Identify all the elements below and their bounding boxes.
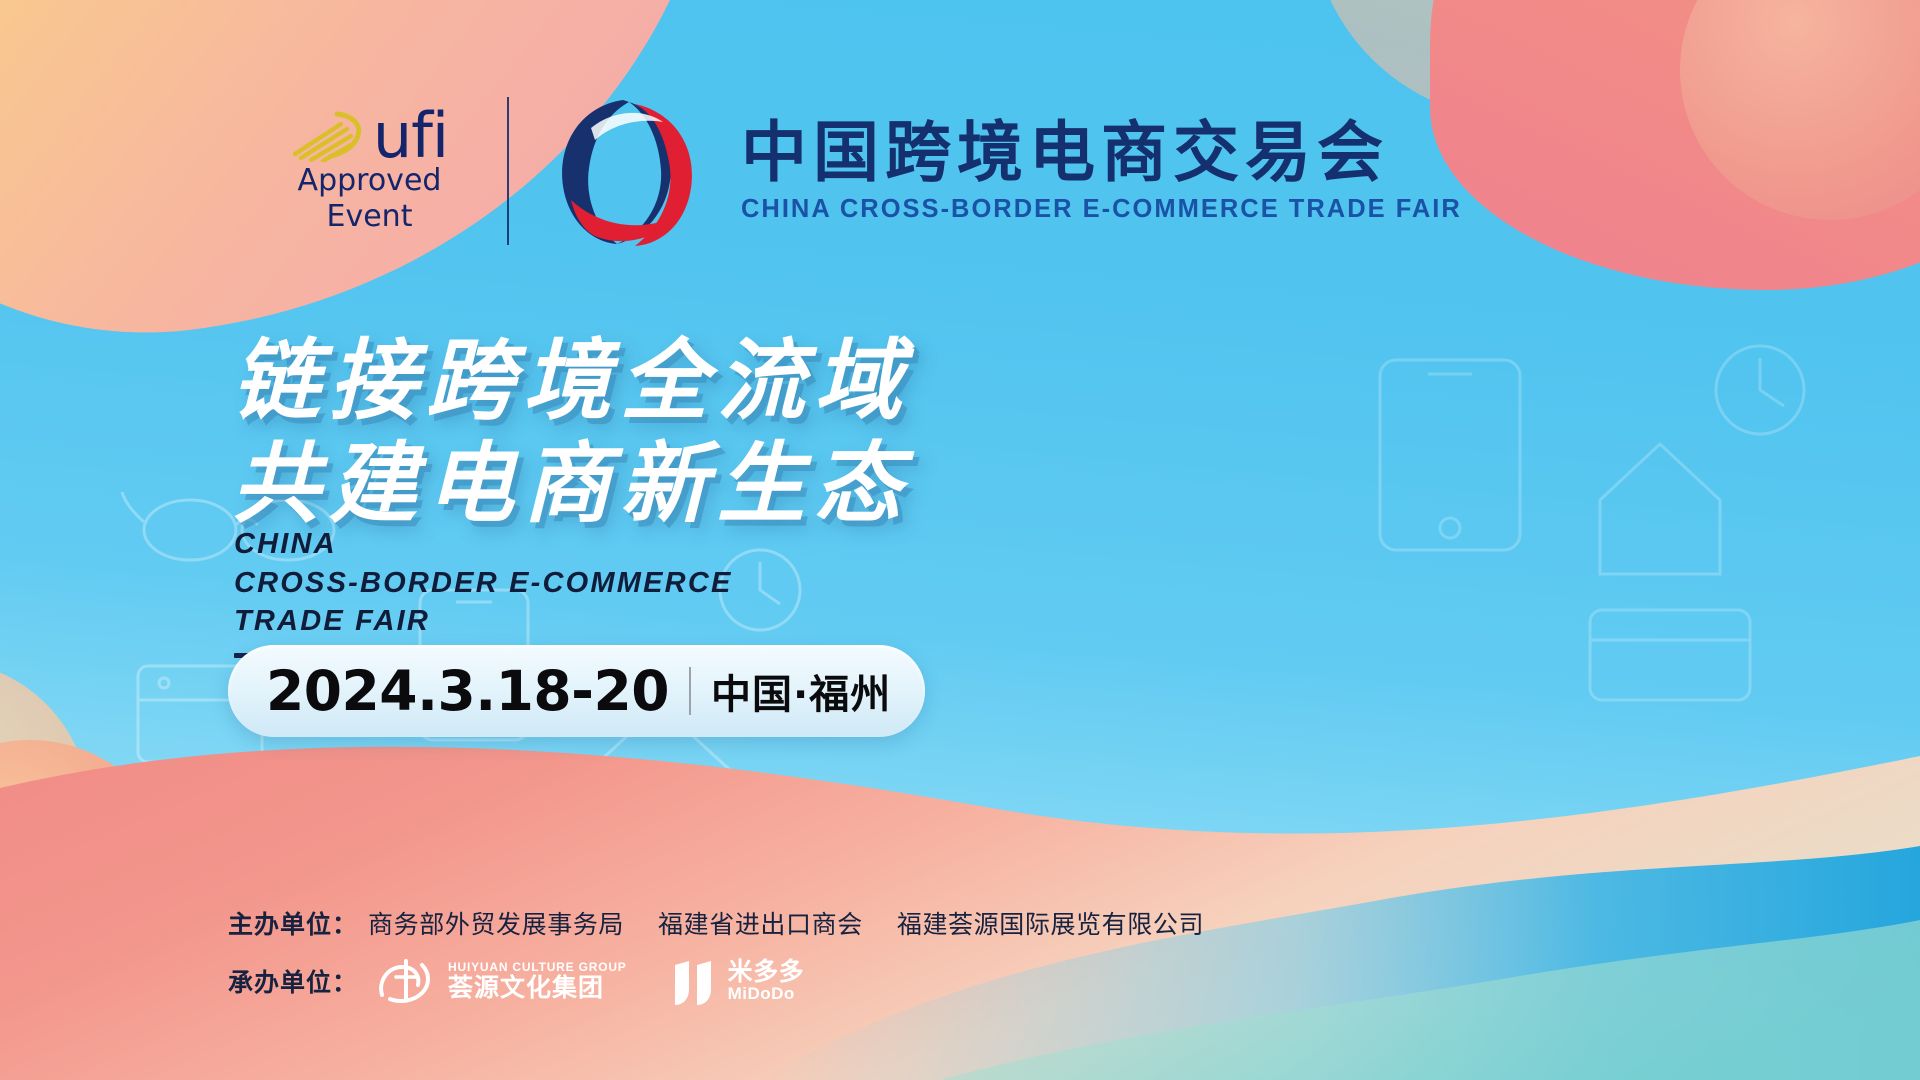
huiyuan-text: HUIYUAN CULTURE GROUP 荟源文化集团	[448, 960, 627, 1002]
product-lineart-decoration-right	[1340, 300, 1860, 720]
ufi-swoosh-icon	[291, 108, 369, 162]
credits-block: 主办单位： 商务部外贸发展事务局 福建省进出口商会 福建荟源国际展览有限公司 承…	[228, 905, 1428, 1007]
host-label: 主办单位：	[228, 905, 358, 941]
left-peach-circle	[0, 740, 180, 1040]
host-org: 福建荟源国际展览有限公司	[897, 905, 1204, 941]
huiyuan-name-en: HUIYUAN CULTURE GROUP	[448, 960, 627, 974]
slogan-line-1: 链接跨境全流域	[232, 330, 911, 433]
left-peach-circle-back	[0, 660, 90, 960]
ufi-wordmark-row: ufi	[291, 108, 448, 162]
logo-divider	[507, 97, 509, 245]
event-logo: 中国跨境电商交易会 CHINA CROSS-BORDER E-COMMERCE …	[551, 96, 1462, 246]
date-separator	[689, 667, 691, 715]
date-location-badge: 2024.3.18-20 中国·福州	[228, 645, 925, 737]
event-name-en: CHINA CROSS-BORDER E-COMMERCE TRADE FAIR	[741, 195, 1462, 224]
host-org: 商务部外贸发展事务局	[368, 905, 624, 941]
slogan-block: 链接跨境全流域 共建电商新生态	[232, 330, 911, 536]
ufi-approved-event-badge: ufi Approved Event	[262, 108, 477, 234]
organizer-logos: HUIYUAN CULTURE GROUP 荟源文化集团 米多多 MiDoDo	[376, 955, 804, 1007]
english-title-block: CHINA CROSS-BORDER E-COMMERCE TRADE FAIR	[234, 525, 733, 658]
event-banner: ufi Approved Event 中国跨境电商交易会 CHINA CROSS…	[0, 0, 1920, 1080]
midodo-mark-icon	[671, 955, 719, 1007]
ufi-wordmark: ufi	[373, 111, 448, 162]
midodo-text: 米多多 MiDoDo	[728, 959, 805, 1003]
midodo-logo: 米多多 MiDoDo	[671, 955, 805, 1007]
ufi-event-line: Event	[327, 200, 413, 234]
top-right-coral-circle	[1680, 0, 1920, 220]
english-title-line-3: TRADE FAIR	[234, 602, 733, 641]
midodo-name-cn: 米多多	[728, 959, 805, 985]
header-logo-row: ufi Approved Event 中国跨境电商交易会 CHINA CROSS…	[262, 96, 1462, 246]
host-row: 主办单位： 商务部外贸发展事务局 福建省进出口商会 福建荟源国际展览有限公司	[228, 905, 1428, 941]
organizer-label: 承办单位：	[228, 963, 358, 999]
slogan-line-2: 共建电商新生态	[232, 433, 911, 536]
huiyuan-monogram-icon	[376, 955, 438, 1007]
ufi-approved-line: Approved	[298, 164, 442, 198]
english-title-line-2: CROSS-BORDER E-COMMERCE	[234, 564, 733, 603]
top-right-coral-blob	[1430, 0, 1920, 290]
event-logo-text: 中国跨境电商交易会 CHINA CROSS-BORDER E-COMMERCE …	[741, 118, 1462, 224]
event-location: 中国·福州	[711, 662, 891, 720]
organizer-row: 承办单位： HUIYUAN CULTURE GROUP 荟源文化集团	[228, 955, 1428, 1007]
host-org: 福建省进出口商会	[658, 905, 863, 941]
host-organizations: 商务部外贸发展事务局 福建省进出口商会 福建荟源国际展览有限公司	[368, 905, 1204, 941]
midodo-name-en: MiDoDo	[728, 985, 805, 1003]
huiyuan-culture-group-logo: HUIYUAN CULTURE GROUP 荟源文化集团	[376, 955, 627, 1007]
event-dates: 2024.3.18-20	[266, 659, 669, 723]
event-name-cn: 中国跨境电商交易会	[741, 118, 1462, 188]
english-title-line-1: CHINA	[234, 525, 733, 564]
huiyuan-name-cn: 荟源文化集团	[448, 974, 627, 1002]
globe-swoosh-logo-icon	[551, 96, 719, 246]
